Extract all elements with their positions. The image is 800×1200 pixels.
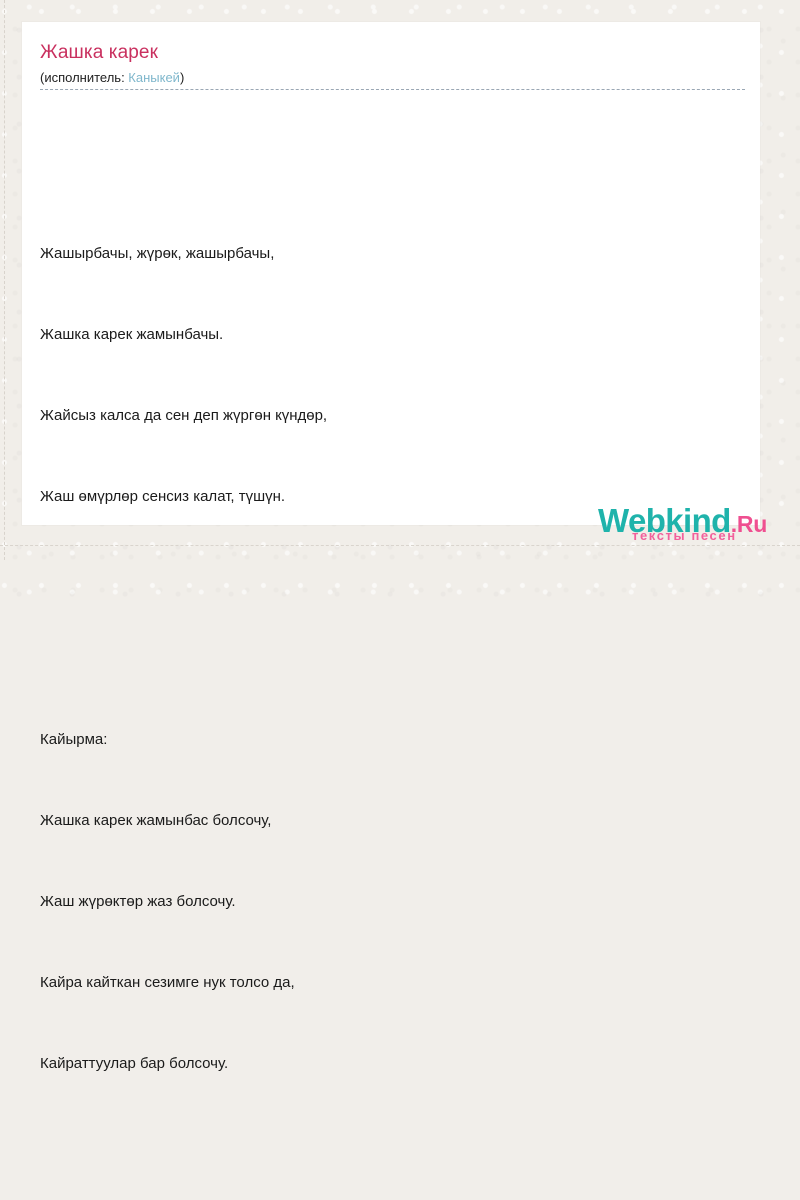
lyrics-line: Жашырбачы, жүрөк, жашырбачы, [40,240,730,267]
lyrics-line: Кайра кайткан сезимге нук толсо да, [40,969,730,996]
lyrics-line: Жайсыз калса да сен деп жүргөн күндөр, [40,402,730,429]
song-header: Жашка карек (исполнитель: Каныкей) [40,42,745,86]
lyrics-line: Жаш жүрөктөр жаз болсочу. [40,888,730,915]
performer-line: (исполнитель: Каныкей) [40,70,745,86]
site-logo[interactable]: Webkind.Ru тексты песен [592,503,784,547]
lyrics-card: Жашка карек (исполнитель: Каныкей) Жашыр… [22,22,760,525]
logo-tagline: тексты песен [632,529,737,543]
lyrics-stanza: Кайырма: Жашка карек жамынбас болсочу, Ж… [40,672,730,1131]
performer-suffix-label: ) [180,70,184,85]
lyrics-line: Кайраттуулар бар болсочу. [40,1050,730,1077]
lyrics-line: Кайырма: [40,726,730,753]
lyrics-body: Жашырбачы, жүрөк, жашырбачы, Жашка карек… [40,105,730,1200]
performer-prefix-label: (исполнитель: [40,70,128,85]
lyrics-line: Жашка карек жамынбачы. [40,321,730,348]
frame-guide-vertical [4,0,5,560]
page-title: Жашка карек [40,42,745,64]
performer-link[interactable]: Каныкей [128,70,180,85]
lyrics-line: Жашка карек жамынбас болсочу, [40,807,730,834]
header-divider [40,89,745,90]
